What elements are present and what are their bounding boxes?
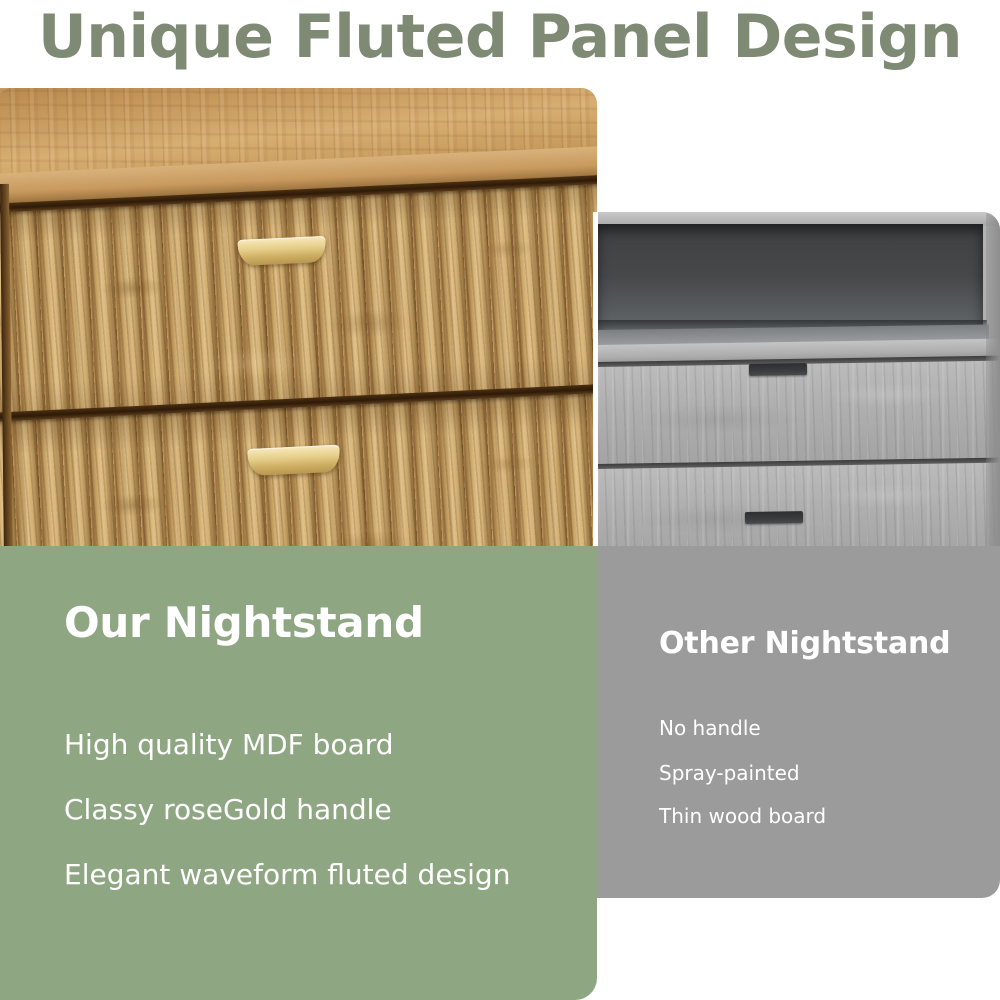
other-feature-2: Spray-painted [659,761,800,785]
our-nightstand-title: Our Nightstand [64,598,424,647]
our-feature-3: Elegant waveform fluted design [64,858,510,891]
recessed-handle-upper [749,363,807,376]
our-feature-2: Classy roseGold handle [64,793,392,826]
other-feature-1: No handle [659,716,761,740]
gray-cabinet-right-edge [986,212,1000,546]
our-nightstand-panel: Our Nightstand High quality MDF board Cl… [0,546,597,1000]
gold-handle-upper [237,236,326,266]
our-feature-1: High quality MDF board [64,728,394,761]
other-nightstand-title: Other Nightstand [659,626,950,661]
our-nightstand-photo [0,88,597,546]
gray-drawer-lower [597,460,1000,546]
other-feature-3: Thin wood board [659,804,826,828]
infographic-canvas: Unique Fluted Panel Design [0,0,1000,1000]
other-nightstand-photo [597,212,1000,546]
gray-grain-texture [597,460,1000,546]
photo-divider [593,212,598,546]
recessed-handle-lower [745,511,803,524]
drawer-shading [0,179,597,421]
wood-drawer-upper [0,179,597,421]
other-nightstand-panel: Other Nightstand No handle Spray-painted… [597,546,1000,898]
gold-handle-lower [247,445,340,476]
page-title: Unique Fluted Panel Design [0,0,1000,76]
